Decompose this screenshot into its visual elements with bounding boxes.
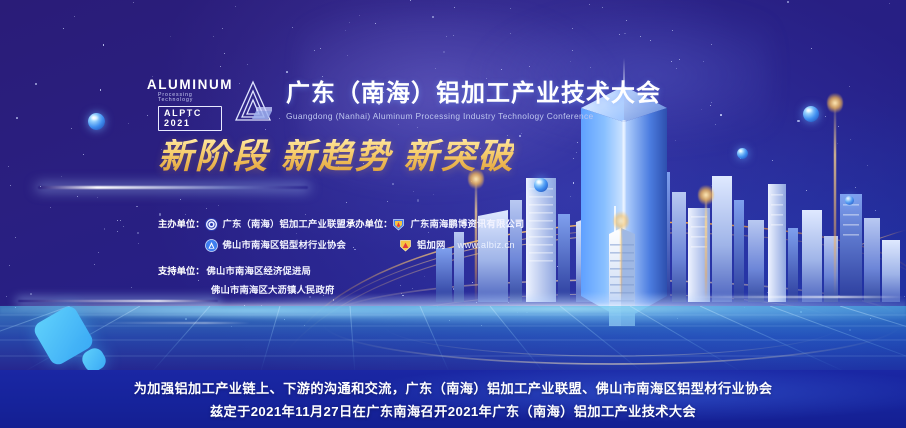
support-block: 支持单位：佛山市南海区经济促进局 佛山市南海区大沥镇人民政府 bbox=[158, 262, 334, 300]
albiz-shield-icon bbox=[399, 239, 412, 252]
glossy-sphere-4 bbox=[737, 148, 748, 159]
page-subtitle: Guangdong (Nanhai) Aluminum Processing I… bbox=[286, 111, 661, 121]
glossy-sphere-1 bbox=[88, 113, 105, 130]
host-label: 主办单位： bbox=[158, 220, 205, 229]
albiz-url[interactable]: www.albiz.cn bbox=[458, 241, 515, 250]
host-line-2: 佛山市南海区铝型材行业协会 bbox=[158, 239, 346, 252]
alliance-seal-icon bbox=[205, 218, 218, 231]
support-line-2: 佛山市南海区大沥镇人民政府 bbox=[158, 281, 334, 300]
light-beam-center bbox=[620, 218, 622, 302]
conference-poster: ALUMINUM Processing Technology ALPTC 202… bbox=[0, 0, 906, 428]
glossy-sphere-2 bbox=[534, 178, 548, 192]
aluminum-extrusion-a-mark-icon bbox=[232, 79, 274, 123]
footer-line-1: 为加强铝加工产业链上、下游的沟通和交流，广东（南海）铝加工产业联盟、佛山市南海区… bbox=[0, 378, 906, 397]
alptc-wordmark: ALUMINUM Processing Technology ALPTC 202… bbox=[158, 78, 222, 131]
undertaker-line-1: 承办单位： 广东南海鹏博资讯有限公司 bbox=[346, 218, 524, 231]
footer-line-2: 兹定于2021年11月27日在广东南海召开2021年广东（南海）铝加工产业技术大… bbox=[0, 401, 906, 420]
logo-tagline-text: Processing Technology bbox=[158, 93, 222, 103]
conference-header: ALUMINUM Processing Technology ALPTC 202… bbox=[158, 78, 661, 124]
light-beam-right bbox=[705, 192, 707, 302]
organizer-row-2: 佛山市南海区铝型材行业协会 铝加网 www.albiz.cn bbox=[158, 235, 508, 256]
undertaker-name-2: 铝加网 bbox=[417, 241, 446, 250]
light-streak-3 bbox=[100, 322, 250, 324]
organizer-block: 主办单位： 广东（南海）铝加工产业联盟 承办单位： 广东南海鹏博资讯有限公司 bbox=[158, 214, 508, 256]
light-streak-1 bbox=[18, 300, 218, 302]
undertaker-line-2: 铝加网 www.albiz.cn bbox=[346, 239, 515, 252]
support-name-2: 佛山市南海区大沥镇人民政府 bbox=[211, 285, 334, 295]
logo-wordmark-text: ALUMINUM bbox=[147, 78, 233, 92]
host-name-1: 广东（南海）铝加工产业联盟 bbox=[223, 220, 346, 229]
alptc-logo: ALUMINUM Processing Technology ALPTC 202… bbox=[158, 78, 222, 124]
grid-lines bbox=[0, 306, 906, 374]
support-line-1: 支持单位：佛山市南海区经济促进局 bbox=[158, 262, 334, 281]
organizer-row-1: 主办单位： 广东（南海）铝加工产业联盟 承办单位： 广东南海鹏博资讯有限公司 bbox=[158, 214, 508, 235]
header-titles: 广东（南海）铝加工产业技术大会 Guangdong (Nanhai) Alumi… bbox=[286, 81, 661, 121]
undertaker-name-1: 广东南海鹏博资讯有限公司 bbox=[410, 220, 524, 229]
support-name-1: 佛山市南海区经济促进局 bbox=[207, 266, 311, 276]
host-name-2: 佛山市南海区铝型材行业协会 bbox=[223, 241, 346, 250]
slogan-underline-streak bbox=[38, 186, 308, 189]
support-label: 支持单位： bbox=[158, 266, 205, 276]
light-streak-2 bbox=[690, 296, 905, 298]
undertaker-label: 承办单位： bbox=[346, 220, 393, 229]
glossy-sphere-5 bbox=[845, 196, 854, 205]
association-seal-icon bbox=[205, 239, 218, 252]
host-line-1: 主办单位： 广东（南海）铝加工产业联盟 bbox=[158, 218, 346, 231]
slogan-text: 新阶段 新趋势 新突破 bbox=[158, 139, 514, 174]
page-title: 广东（南海）铝加工产业技术大会 bbox=[286, 81, 661, 108]
light-beam-far-right bbox=[834, 100, 836, 296]
glossy-sphere-3 bbox=[803, 106, 819, 122]
logo-badge-text: ALPTC 2021 bbox=[158, 106, 222, 131]
pengbo-shield-icon bbox=[392, 218, 405, 231]
